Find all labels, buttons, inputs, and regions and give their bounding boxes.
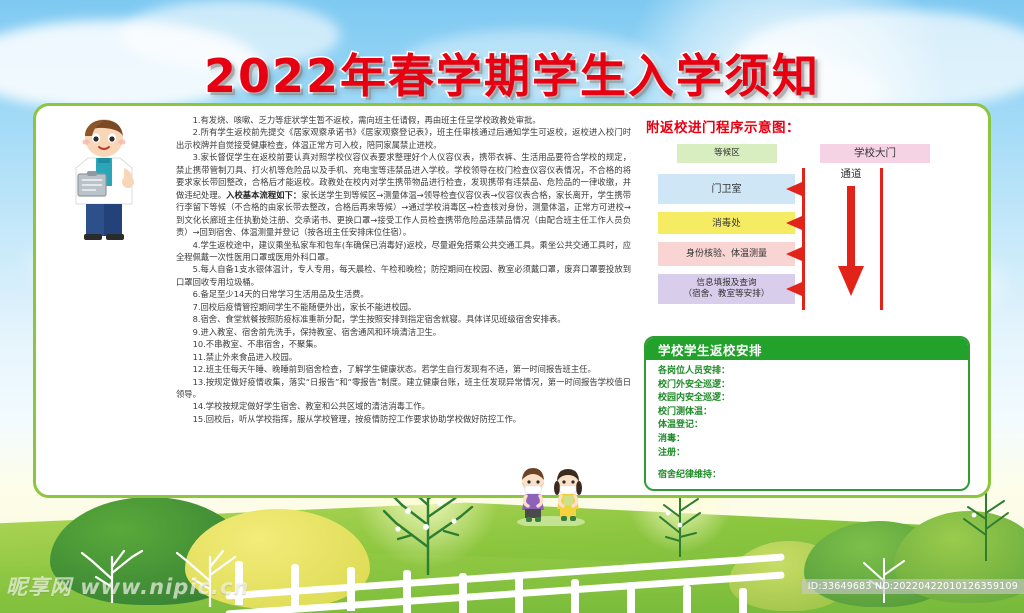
- chip-disinfection: 消毒处: [658, 212, 795, 234]
- notice-item: 12.班主任每天午睡、晚睡前到宿舍检查，了解学生健康状态。若学生自行发现有不适，…: [176, 363, 631, 375]
- notice-item: 1.有发烧、咳嗽、乏力等症状学生暂不返校，需向班主任请假，再由班主任呈学校政教处…: [176, 114, 631, 126]
- notice-item: 11.禁止外来食品进入校园。: [176, 351, 631, 363]
- chip-guard-room: 门卫室: [658, 174, 795, 204]
- down-arrow-icon: [836, 186, 866, 298]
- corridor-label: 通道: [820, 166, 882, 181]
- notice-item: 5.每人自备1支水银体温计，专人专用，每天晨检、午检和晚检；防控期间在校园、教室…: [176, 263, 631, 288]
- arrow-to-info-registration: [786, 282, 802, 296]
- flowchart-diagram: 等候区 学校大门 通道 门卫室 消毒处 身份核验、体温测量: [644, 142, 979, 312]
- boy-figure: [522, 468, 544, 522]
- chip-info-registration: 信息填报及查询 （宿舍、教室等安排）: [658, 274, 795, 304]
- schedule-item: 校门外安全巡逻：: [658, 379, 968, 393]
- notice-text-column: 1.有发烧、咳嗽、乏力等症状学生暂不返校，需向班主任请假，再由班主任呈学校政教处…: [176, 114, 631, 425]
- notice-item: 13.按规定做好疫情收集，落实“日报告”和“零报告”制度。建立健康台账，班主任发…: [176, 376, 631, 401]
- chip-school-gate: 学校大门: [820, 144, 930, 163]
- chip-info-registration-line1: 信息填报及查询: [696, 278, 756, 289]
- arrow-to-identity-check: [786, 247, 802, 261]
- schedule-box-body: 各岗位人员安排： 校门外安全巡逻： 校园内安全巡逻： 校门测体温： 体温登记： …: [646, 360, 968, 483]
- return-schedule-box: 学校学生返校安排 各岗位人员安排： 校门外安全巡逻： 校园内安全巡逻： 校门测体…: [644, 336, 970, 491]
- doctor-illustration: [58, 116, 150, 241]
- poster-canvas: 2022年春学期学生入学须知: [0, 0, 1024, 613]
- girl-figure: [554, 469, 582, 521]
- notice-item: 4.学生返校途中，建议乘坐私家车和包车(车确保已消毒好)返校，尽量避免搭乘公共交…: [176, 239, 631, 264]
- schedule-box-header: 学校学生返校安排: [646, 338, 968, 360]
- chip-info-registration-line2: （宿舍、教室等安排）: [684, 289, 770, 300]
- arrow-to-disinfection: [786, 216, 802, 230]
- notice-item: 9.进入教室、宿舍前先洗手，保持教室、宿舍通风和环境清洁卫生。: [176, 326, 631, 338]
- chip-wait-area: 等候区: [677, 144, 777, 163]
- site-watermark: 昵享网 www.nipic.cn: [6, 571, 249, 601]
- notice-item: 7.回校后疫情管控期间学生不能随便外出，家长不能进校园。: [176, 301, 631, 313]
- page-title: 2022年春学期学生入学须知: [204, 40, 820, 106]
- fence-graphic: [225, 557, 785, 613]
- notice-item: 2.所有学生返校前先提交《居家观察承诺书》《居家观察登记表》，班主任审核通过后通…: [176, 126, 631, 151]
- gate-wall-right: [880, 168, 883, 310]
- notice-item: 14.学校按规定做好学生宿舍、教室和公共区域的清洁消毒工作。: [176, 400, 631, 412]
- students-illustration: [505, 466, 597, 526]
- chip-identity-temperature: 身份核验、体温测量: [658, 242, 795, 266]
- poster-title-container: 2022年春学期学生入学须知: [0, 40, 1024, 106]
- image-id-tag: ID:33649683 NO:20220422010126359109: [802, 579, 1024, 594]
- schedule-item: 注册：: [658, 447, 968, 461]
- schedule-spacer: [658, 460, 968, 469]
- flow-lead-bold: 入校基本流程如下：: [226, 190, 301, 200]
- notice-item: 8.宿舍、食堂就餐按照防疫标准重新分配，学生按照安排到指定宿舍就寝。具体详见班级…: [176, 313, 631, 325]
- notice-board: 1.有发烧、咳嗽、乏力等症状学生暂不返校，需向班主任请假，再由班主任呈学校政教处…: [33, 103, 991, 498]
- schedule-item-dorm-discipline: 宿舍纪律维持：: [658, 469, 968, 483]
- schedule-item: 消毒：: [658, 433, 968, 447]
- notice-item: 10.不串教室、不串宿舍，不聚集。: [176, 338, 631, 350]
- notice-item: 15.回校后，听从学校指挥，服从学校管理，按疫情防控工作要求协助学校做好防控工作…: [176, 413, 631, 425]
- flowchart-heading: 附返校进门程序示意图：: [646, 116, 979, 136]
- schedule-item: 校门测体温：: [658, 406, 968, 420]
- arrow-to-guard-room: [786, 182, 802, 196]
- schedule-item: 体温登记：: [658, 419, 968, 433]
- schedule-item: 各岗位人员安排：: [658, 365, 968, 379]
- schedule-box-title: 学校学生返校安排: [658, 340, 762, 359]
- flowchart-panel: 附返校进门程序示意图： 等候区 学校大门 通道 门卫室 消毒处 身份核验、体温测…: [644, 116, 979, 312]
- notice-item-3: 3.家长督促学生在返校前要认真对照学校仪容仪表要求整理好个人仪容仪表，携带衣裤、…: [176, 151, 631, 238]
- schedule-item: 校园内安全巡逻：: [658, 392, 968, 406]
- notice-item: 6.备足至少14天的日常学习生活用品及生活费。: [176, 288, 631, 300]
